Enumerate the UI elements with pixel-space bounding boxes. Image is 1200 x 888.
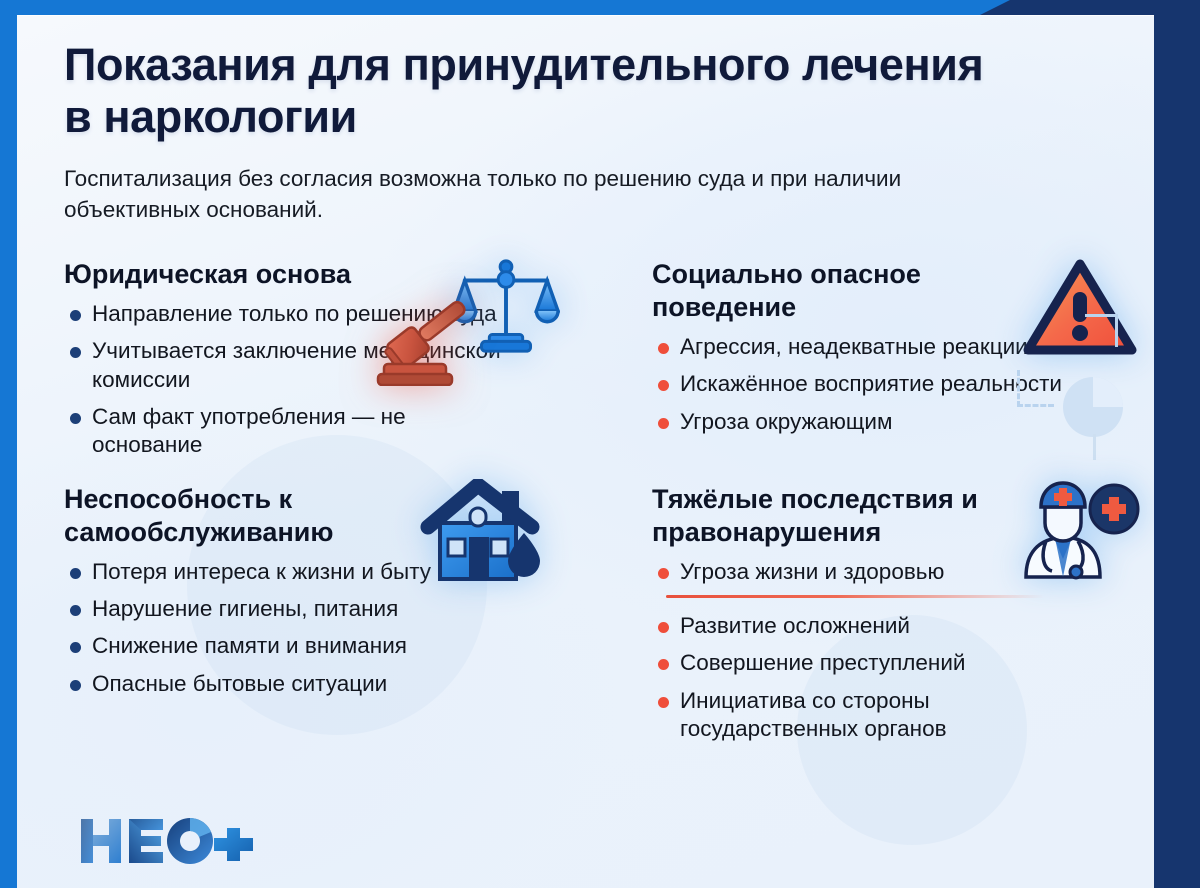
section-divider bbox=[666, 595, 1044, 598]
list-item: Совершение преступлений bbox=[652, 649, 1110, 677]
warning-triangle-icon bbox=[1020, 252, 1140, 367]
pie-chart-decoration bbox=[1062, 376, 1124, 443]
tick-decoration bbox=[1093, 434, 1096, 460]
house-icon bbox=[420, 479, 546, 590]
section-dangerous-behaviour: Социально опасное поведение Агрессия, не… bbox=[652, 258, 1134, 469]
list-item: Опасные бытовые ситуации bbox=[64, 670, 522, 698]
list-item: Сам факт употребления — не основание bbox=[64, 403, 522, 460]
dashed-bracket-decoration bbox=[1017, 370, 1054, 407]
list-item: Снижение памяти и внимания bbox=[64, 632, 522, 660]
section-legal-basis: Юридическая основа Направление только по… bbox=[64, 258, 642, 469]
list-item: Угроза окружающим bbox=[652, 408, 1110, 436]
section-self-care-inability: Неспособность к самообслуживанию Потеря … bbox=[64, 483, 642, 753]
section-severe-consequences: Тяжёлые последствия и правонарушения Угр… bbox=[652, 483, 1134, 753]
corner-bracket-decoration bbox=[1085, 314, 1118, 347]
section-bullet-list: Потеря интереса к жизни и быту Нарушение… bbox=[64, 558, 642, 698]
list-item: Развитие осложнений bbox=[652, 612, 1110, 640]
sections-grid: Юридическая основа Направление только по… bbox=[64, 258, 1134, 752]
neo-plus-logo bbox=[77, 813, 253, 874]
section-bullet-list-continued: Развитие осложнений Совершение преступле… bbox=[652, 612, 1134, 743]
list-item: Инициатива со стороны государственных ор… bbox=[652, 687, 1110, 744]
list-item: Нарушение гигиены, питания bbox=[64, 595, 522, 623]
doctor-icon bbox=[1014, 477, 1140, 586]
page-title: Показания для принудительного лечения в … bbox=[64, 39, 1004, 143]
section-heading: Социально опасное поведение bbox=[652, 258, 1052, 324]
gavel-icon bbox=[376, 294, 482, 391]
infographic-poster: Показания для принудительного лечения в … bbox=[0, 0, 1200, 888]
page-subtitle: Госпитализация без согласия возможна тол… bbox=[64, 163, 994, 225]
section-heading: Юридическая основа bbox=[64, 258, 484, 291]
section-heading: Тяжёлые последствия и правонарушения bbox=[652, 483, 1072, 549]
content-card: Показания для принудительного лечения в … bbox=[17, 15, 1154, 888]
